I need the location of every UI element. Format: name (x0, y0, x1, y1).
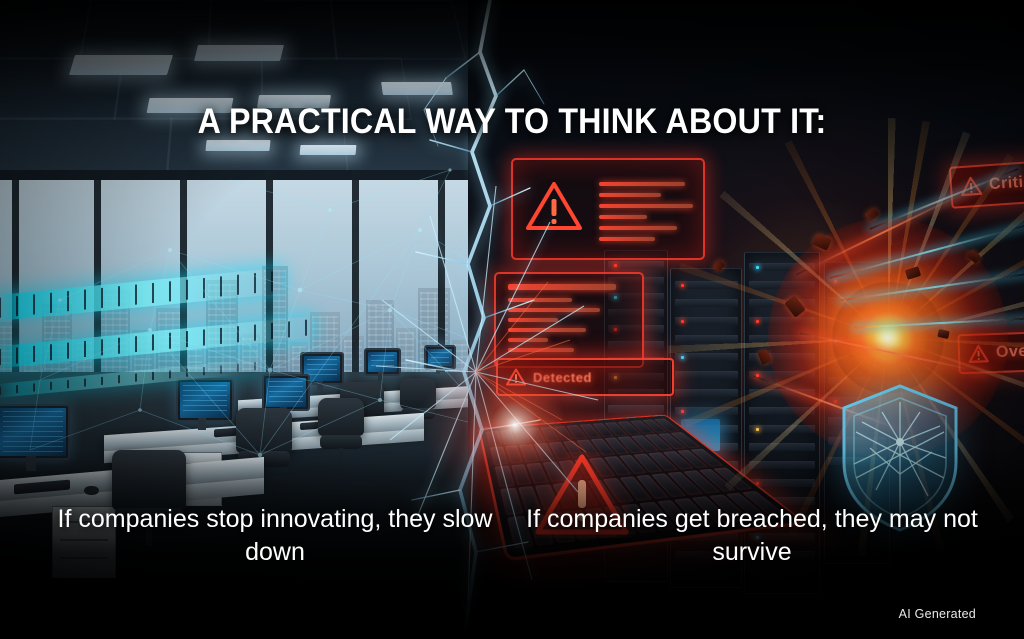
text-layer: A PRACTICAL WAY TO THINK ABOUT IT: If co… (0, 0, 1024, 639)
caption-right: If companies get breached, they may not … (517, 503, 987, 568)
ai-generated-watermark: AI Generated (899, 607, 976, 621)
slide-canvas: Detected Critical (0, 0, 1024, 639)
caption-left: If companies stop innovating, they slow … (40, 503, 510, 568)
page-title: A PRACTICAL WAY TO THINK ABOUT IT: (41, 102, 983, 142)
